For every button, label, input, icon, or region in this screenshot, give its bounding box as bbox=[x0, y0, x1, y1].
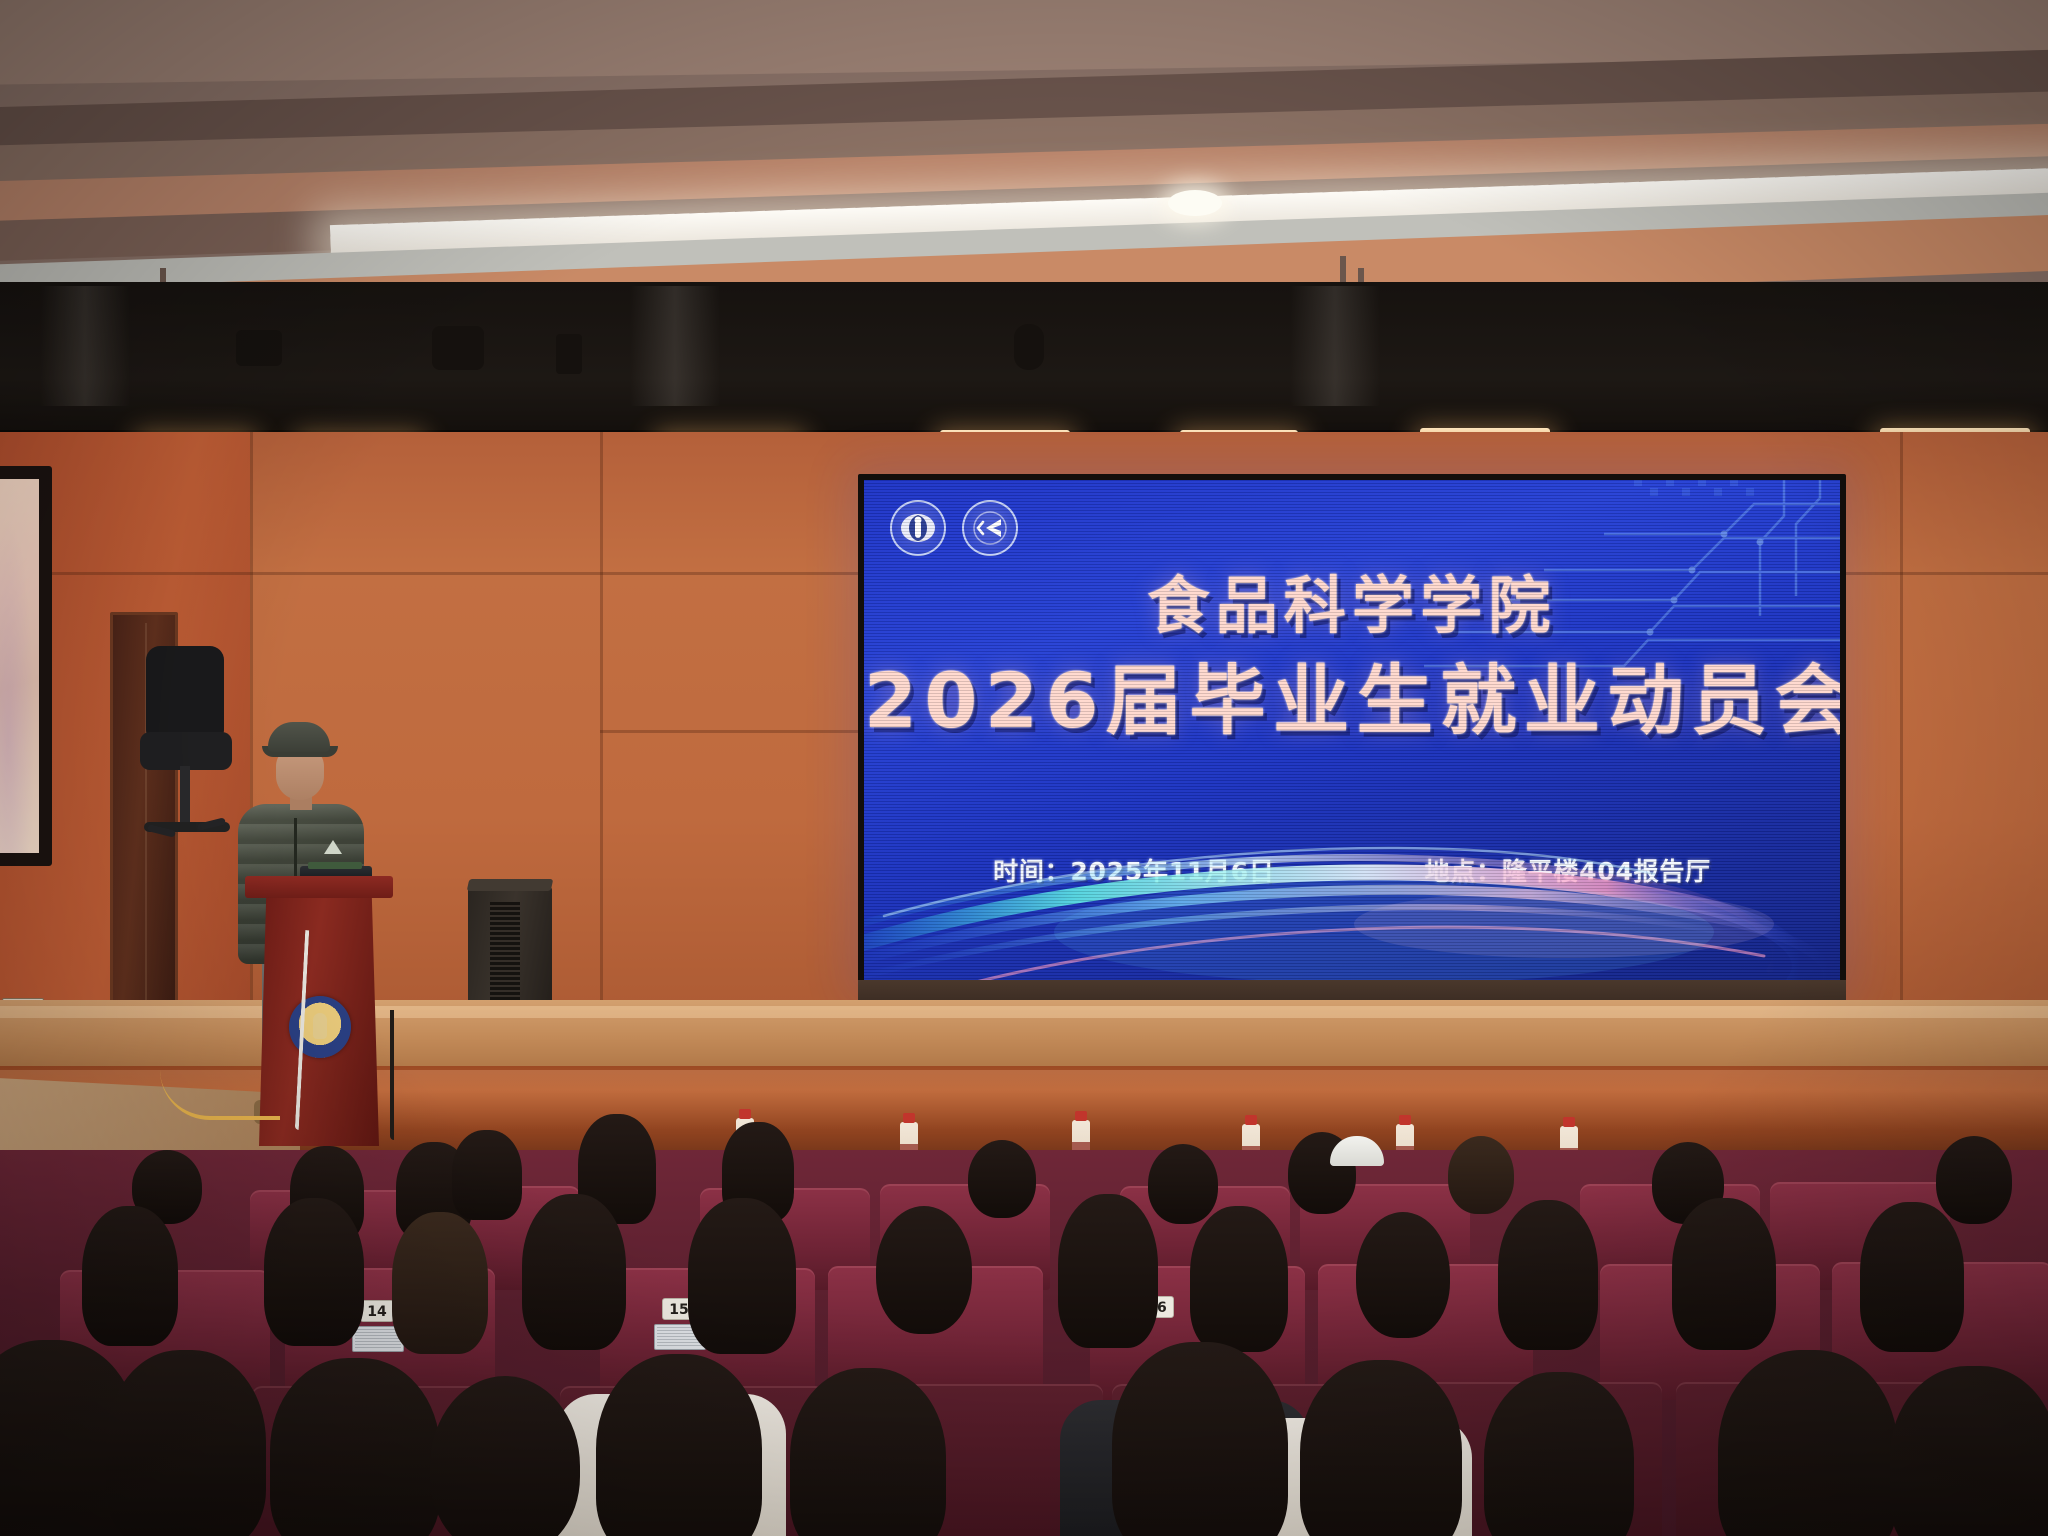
audience-head bbox=[876, 1206, 972, 1334]
audience-head bbox=[1148, 1144, 1218, 1224]
audience-head bbox=[82, 1206, 178, 1346]
audience-head bbox=[596, 1354, 762, 1536]
stage-side-office-chair[interactable] bbox=[140, 646, 232, 826]
auditorium-scene: 食品科学学院 2026届毕业生就业动员会 时间：2025年11月6日 地点：隆平… bbox=[0, 0, 2048, 1536]
audience-head bbox=[264, 1198, 364, 1346]
screen-logo-group bbox=[890, 500, 1018, 556]
university-seal-logo-icon bbox=[890, 500, 946, 556]
audience-head bbox=[430, 1376, 580, 1536]
light-streak-graphic bbox=[864, 756, 1840, 984]
ceiling-downlight-icon bbox=[1168, 190, 1222, 216]
wall-seam bbox=[600, 730, 900, 733]
chair-post bbox=[180, 766, 190, 828]
seal-glyph bbox=[898, 508, 938, 548]
spotlight-fixture-icon bbox=[432, 326, 484, 370]
audience-head bbox=[1672, 1198, 1776, 1350]
seat-number-tag: 14 bbox=[360, 1300, 394, 1322]
spotlight-fixture-icon bbox=[236, 330, 282, 366]
emblem-glyph bbox=[970, 508, 1010, 548]
wall-seam bbox=[1900, 432, 1903, 1002]
screen-title-line-2: 2026届毕业生就业动员会 bbox=[864, 658, 1840, 745]
screen-title-block: 食品科学学院 2026届毕业生就业动员会 bbox=[864, 572, 1840, 745]
truss-sheen bbox=[1290, 286, 1380, 406]
led-screen-surface: 食品科学学院 2026届毕业生就业动员会 时间：2025年11月6日 地点：隆平… bbox=[864, 480, 1840, 984]
speaker-cable bbox=[390, 1010, 394, 1140]
audience-head bbox=[1448, 1136, 1514, 1214]
podium-top-surface bbox=[245, 876, 393, 898]
audience-head bbox=[1300, 1360, 1462, 1536]
led-display-screen[interactable]: 食品科学学院 2026届毕业生就业动员会 时间：2025年11月6日 地点：隆平… bbox=[858, 474, 1846, 990]
chair-seat bbox=[140, 732, 232, 770]
audience-head bbox=[1890, 1366, 2048, 1536]
audience-head bbox=[392, 1212, 488, 1354]
wall-seam bbox=[600, 432, 603, 1002]
audience-head bbox=[452, 1130, 522, 1220]
spotlight-arm bbox=[556, 334, 582, 374]
screen-title-line-1: 食品科学学院 bbox=[864, 572, 1840, 640]
stage-camera-icon bbox=[1014, 324, 1044, 370]
side-projection-panel bbox=[0, 466, 52, 866]
audience-head bbox=[1356, 1212, 1450, 1338]
audience-head bbox=[790, 1368, 946, 1536]
audience-head bbox=[1936, 1136, 2012, 1224]
chair-backrest bbox=[146, 646, 224, 738]
audience-head bbox=[270, 1358, 440, 1536]
audience-head bbox=[1498, 1200, 1598, 1350]
truss-sheen bbox=[630, 286, 720, 406]
college-emblem-logo-icon bbox=[962, 500, 1018, 556]
presenter-baseball-cap bbox=[268, 722, 330, 752]
truss-sheen bbox=[40, 286, 130, 406]
pa-speaker-top bbox=[467, 879, 554, 891]
audience-head bbox=[106, 1350, 266, 1536]
podium-laptop-screen bbox=[308, 862, 362, 869]
audience-head bbox=[1484, 1372, 1634, 1536]
audience-head bbox=[1718, 1350, 1898, 1536]
audience-seating-area: 11 13 14 15 16 15 17 bbox=[0, 1150, 2048, 1536]
audience-head bbox=[968, 1140, 1036, 1218]
audience-head bbox=[1112, 1342, 1288, 1536]
audience-head bbox=[688, 1198, 796, 1354]
audience-head bbox=[1058, 1194, 1158, 1348]
audience-head bbox=[522, 1194, 626, 1350]
ceiling bbox=[0, 0, 2048, 300]
audience-head bbox=[1190, 1206, 1288, 1352]
audience-head bbox=[1860, 1202, 1964, 1352]
